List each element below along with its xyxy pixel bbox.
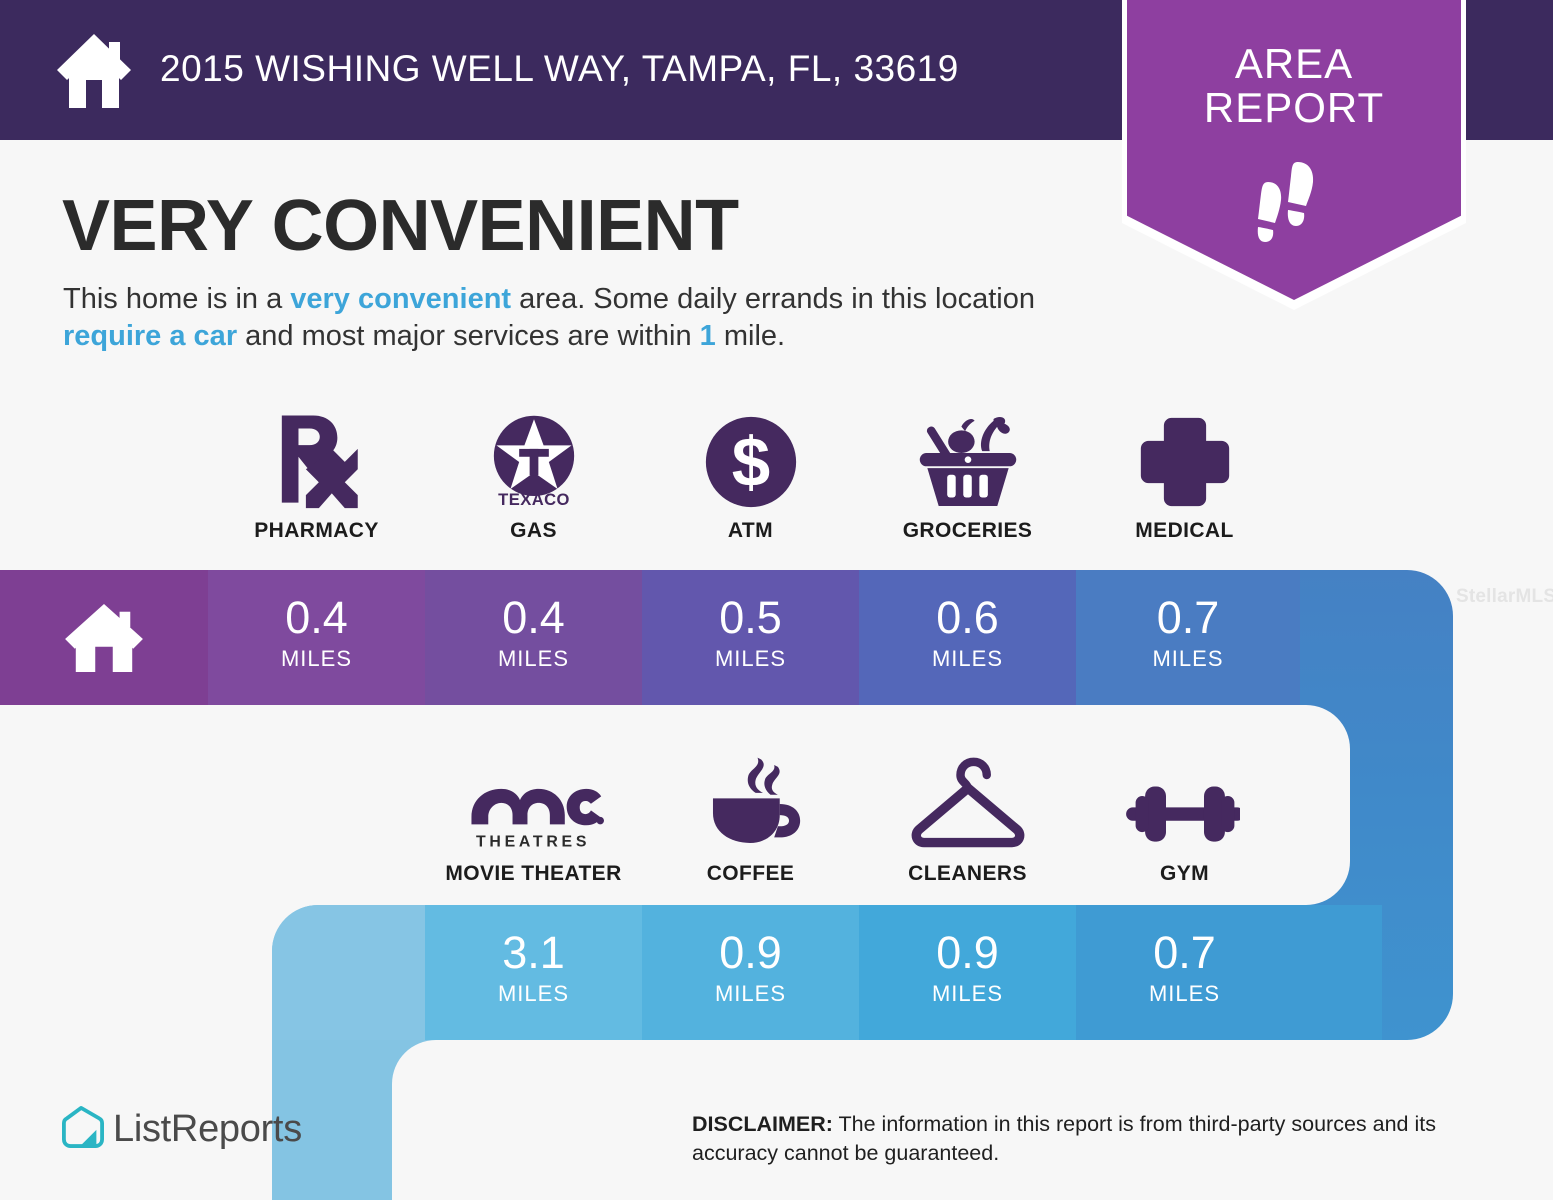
amenity-pharmacy: PHARMACY	[208, 405, 425, 543]
summary-text: This home is in a very convenient area. …	[63, 281, 1103, 355]
summary-run: This home is in a	[63, 283, 290, 315]
summary-highlight: very convenient	[290, 283, 511, 315]
distance-value: 0.9	[642, 929, 859, 977]
distance-bar-row-1: 0.4 MILES 0.4 MILES 0.5 MILES 0.6 MILES …	[0, 570, 1300, 705]
distance-cell-gas: 0.4 MILES	[425, 570, 642, 705]
medical-cross-icon	[1076, 405, 1293, 510]
listreports-brand-name: ListReports	[113, 1108, 302, 1151]
distance-bar-row-2: 3.1 MILES 0.9 MILES 0.9 MILES 0.7 MILES	[272, 905, 1382, 1040]
distance-cell-cleaners: 0.9 MILES	[859, 905, 1076, 1040]
home-marker-cell	[0, 570, 208, 705]
home-icon	[63, 602, 145, 674]
page-title: VERY CONVENIENT	[62, 185, 739, 267]
distance-cell-medical: 0.7 MILES	[1076, 570, 1300, 705]
distance-value: 0.7	[1076, 594, 1300, 642]
amenity-atm: $ ATM	[642, 405, 859, 543]
amenity-medical: MEDICAL	[1076, 405, 1293, 543]
badge-line-2: REPORT	[1127, 86, 1461, 130]
badge-line-1: AREA	[1127, 42, 1461, 86]
badge-title: AREA REPORT	[1127, 42, 1461, 130]
amenity-label: PHARMACY	[208, 519, 425, 543]
distance-cell-movie-theater: 3.1 MILES	[425, 905, 642, 1040]
distance-value: 3.1	[425, 929, 642, 977]
stellarmls-watermark: StellarMLS	[1456, 586, 1553, 608]
distance-cell-coffee: 0.9 MILES	[642, 905, 859, 1040]
area-report-infographic: 2015 WISHING WELL WAY, TAMPA, FL, 33619 …	[0, 0, 1553, 1200]
distance-unit: MILES	[1076, 646, 1300, 672]
disclaimer: DISCLAIMER: The information in this repo…	[692, 1110, 1492, 1168]
rx-icon	[208, 405, 425, 510]
amenity-label: GAS	[425, 519, 642, 543]
distance-unit: MILES	[208, 646, 425, 672]
distance-value: 0.9	[859, 929, 1076, 977]
summary-run: area. Some daily errands in this locatio…	[511, 283, 1035, 315]
distance-value: 0.6	[859, 594, 1076, 642]
amenity-gas: TEXACO GAS	[425, 405, 642, 543]
grocery-basket-icon	[859, 405, 1076, 510]
summary-highlight: 1	[700, 320, 716, 352]
summary-highlight: require a car	[63, 320, 237, 352]
home-icon	[55, 30, 133, 110]
ribbon-right-notch	[1240, 705, 1350, 905]
distance-unit: MILES	[642, 981, 859, 1007]
distance-value: 0.5	[642, 594, 859, 642]
footprints-icon	[1246, 160, 1342, 250]
distance-unit: MILES	[1076, 981, 1293, 1007]
distance-cell-groceries: 0.6 MILES	[859, 570, 1076, 705]
distance-unit: MILES	[425, 646, 642, 672]
svg-text:TEXACO: TEXACO	[498, 490, 570, 509]
amenity-groceries: GROCERIES	[859, 405, 1076, 543]
distance-unit: MILES	[642, 646, 859, 672]
ribbon-tail-notch	[392, 1040, 512, 1200]
distance-cell-atm: 0.5 MILES	[642, 570, 859, 705]
svg-text:$: $	[731, 423, 769, 501]
distance-value: 0.4	[208, 594, 425, 642]
disclaimer-label: DISCLAIMER:	[692, 1112, 833, 1136]
distance-unit: MILES	[425, 981, 642, 1007]
property-address: 2015 WISHING WELL WAY, TAMPA, FL, 33619	[160, 48, 959, 90]
ribbon-row2-start	[272, 905, 425, 1040]
distance-ribbon: 0.4 MILES 0.4 MILES 0.5 MILES 0.6 MILES …	[0, 570, 1553, 1200]
texaco-star-icon: TEXACO	[425, 405, 642, 510]
amenity-label: GROCERIES	[859, 519, 1076, 543]
listreports-house-icon	[62, 1105, 104, 1149]
distance-unit: MILES	[859, 981, 1076, 1007]
distance-unit: MILES	[859, 646, 1076, 672]
distance-value: 0.7	[1076, 929, 1293, 977]
summary-run: mile.	[716, 320, 785, 352]
distance-cell-pharmacy: 0.4 MILES	[208, 570, 425, 705]
dollar-circle-icon: $	[642, 405, 859, 510]
amenity-label: ATM	[642, 519, 859, 543]
distance-value: 0.4	[425, 594, 642, 642]
summary-run: and most major services are within	[237, 320, 700, 352]
distance-cell-gym: 0.7 MILES	[1076, 905, 1382, 1040]
amenity-label: MEDICAL	[1076, 519, 1293, 543]
